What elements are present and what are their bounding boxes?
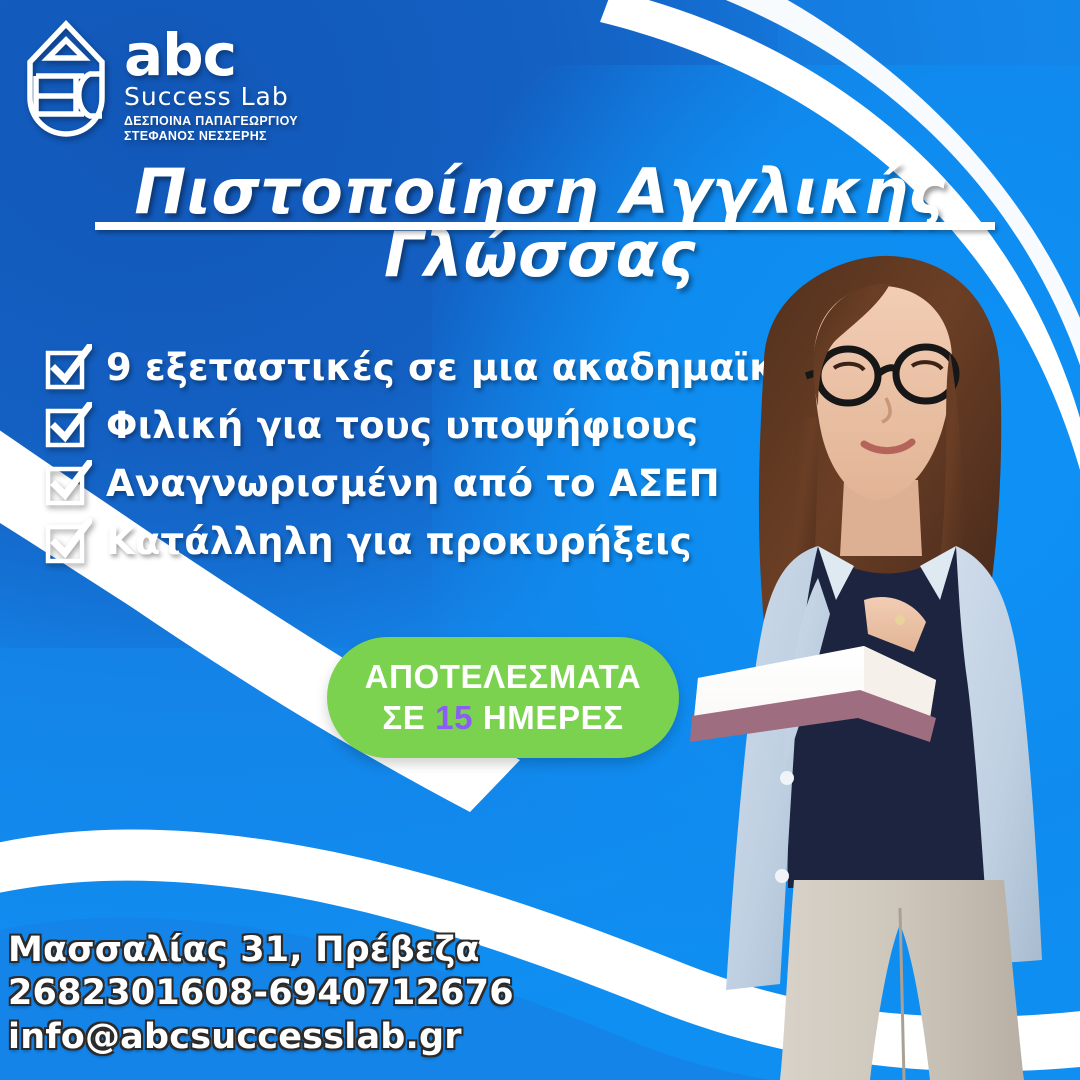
brand-owner-two: ΣΤΕΦΑΝΟΣ ΝΕΣΣΕΡΗΣ xyxy=(124,129,298,145)
checkbox-checked-icon xyxy=(44,344,92,392)
abc-monogram-emblem-icon xyxy=(22,18,110,142)
checkbox-checked-icon xyxy=(44,460,92,508)
brand-tagline: Success Lab xyxy=(124,84,298,109)
title-underline xyxy=(95,222,995,230)
badge-line-two: ΣΕ 15 ΗΜΕΡΕΣ xyxy=(382,699,623,738)
contact-phones[interactable]: 2682301608-6940712676 xyxy=(8,973,514,1014)
brand-logo: abc Success Lab ΔΕΣΠΟΙΝΑ ΠΑΠΑΓΕΩΡΓΙΟΥ ΣΤ… xyxy=(22,18,298,145)
checkbox-checked-icon xyxy=(44,402,92,450)
brand-owner-one: ΔΕΣΠΟΙΝΑ ΠΑΠΑΓΕΩΡΓΙΟΥ xyxy=(124,114,298,130)
feature-label: Κατάλληλη για προκυρήξεις xyxy=(106,523,692,562)
badge-prefix: ΣΕ xyxy=(382,699,425,736)
feature-label: Φιλική για τους υποψήφιους xyxy=(106,407,698,446)
contact-address: Μασσαλίας 31, Πρέβεζα xyxy=(8,930,514,971)
feature-label: Αναγνωρισμένη από το ΑΣΕΠ xyxy=(106,465,720,504)
student-photo xyxy=(668,248,1080,1080)
contact-block: Μασσαλίας 31, Πρέβεζα 2682301608-6940712… xyxy=(8,930,514,1058)
promo-poster: abc Success Lab ΔΕΣΠΟΙΝΑ ΠΑΠΑΓΕΩΡΓΙΟΥ ΣΤ… xyxy=(0,0,1080,1080)
checkbox-checked-icon xyxy=(44,518,92,566)
brand-wordmark-group: abc Success Lab ΔΕΣΠΟΙΝΑ ΠΑΠΑΓΕΩΡΓΙΟΥ ΣΤ… xyxy=(124,18,298,145)
badge-line-one: ΑΠΟΤΕΛΕΣΜΑΤΑ xyxy=(365,658,642,697)
badge-suffix: ΗΜΕΡΕΣ xyxy=(483,699,624,736)
brand-wordmark: abc xyxy=(124,32,298,80)
results-badge: ΑΠΟΤΕΛΕΣΜΑΤΑ ΣΕ 15 ΗΜΕΡΕΣ xyxy=(327,637,679,758)
contact-email[interactable]: info@abcsuccesslab.gr xyxy=(8,1017,514,1058)
badge-number: 15 xyxy=(435,699,473,736)
